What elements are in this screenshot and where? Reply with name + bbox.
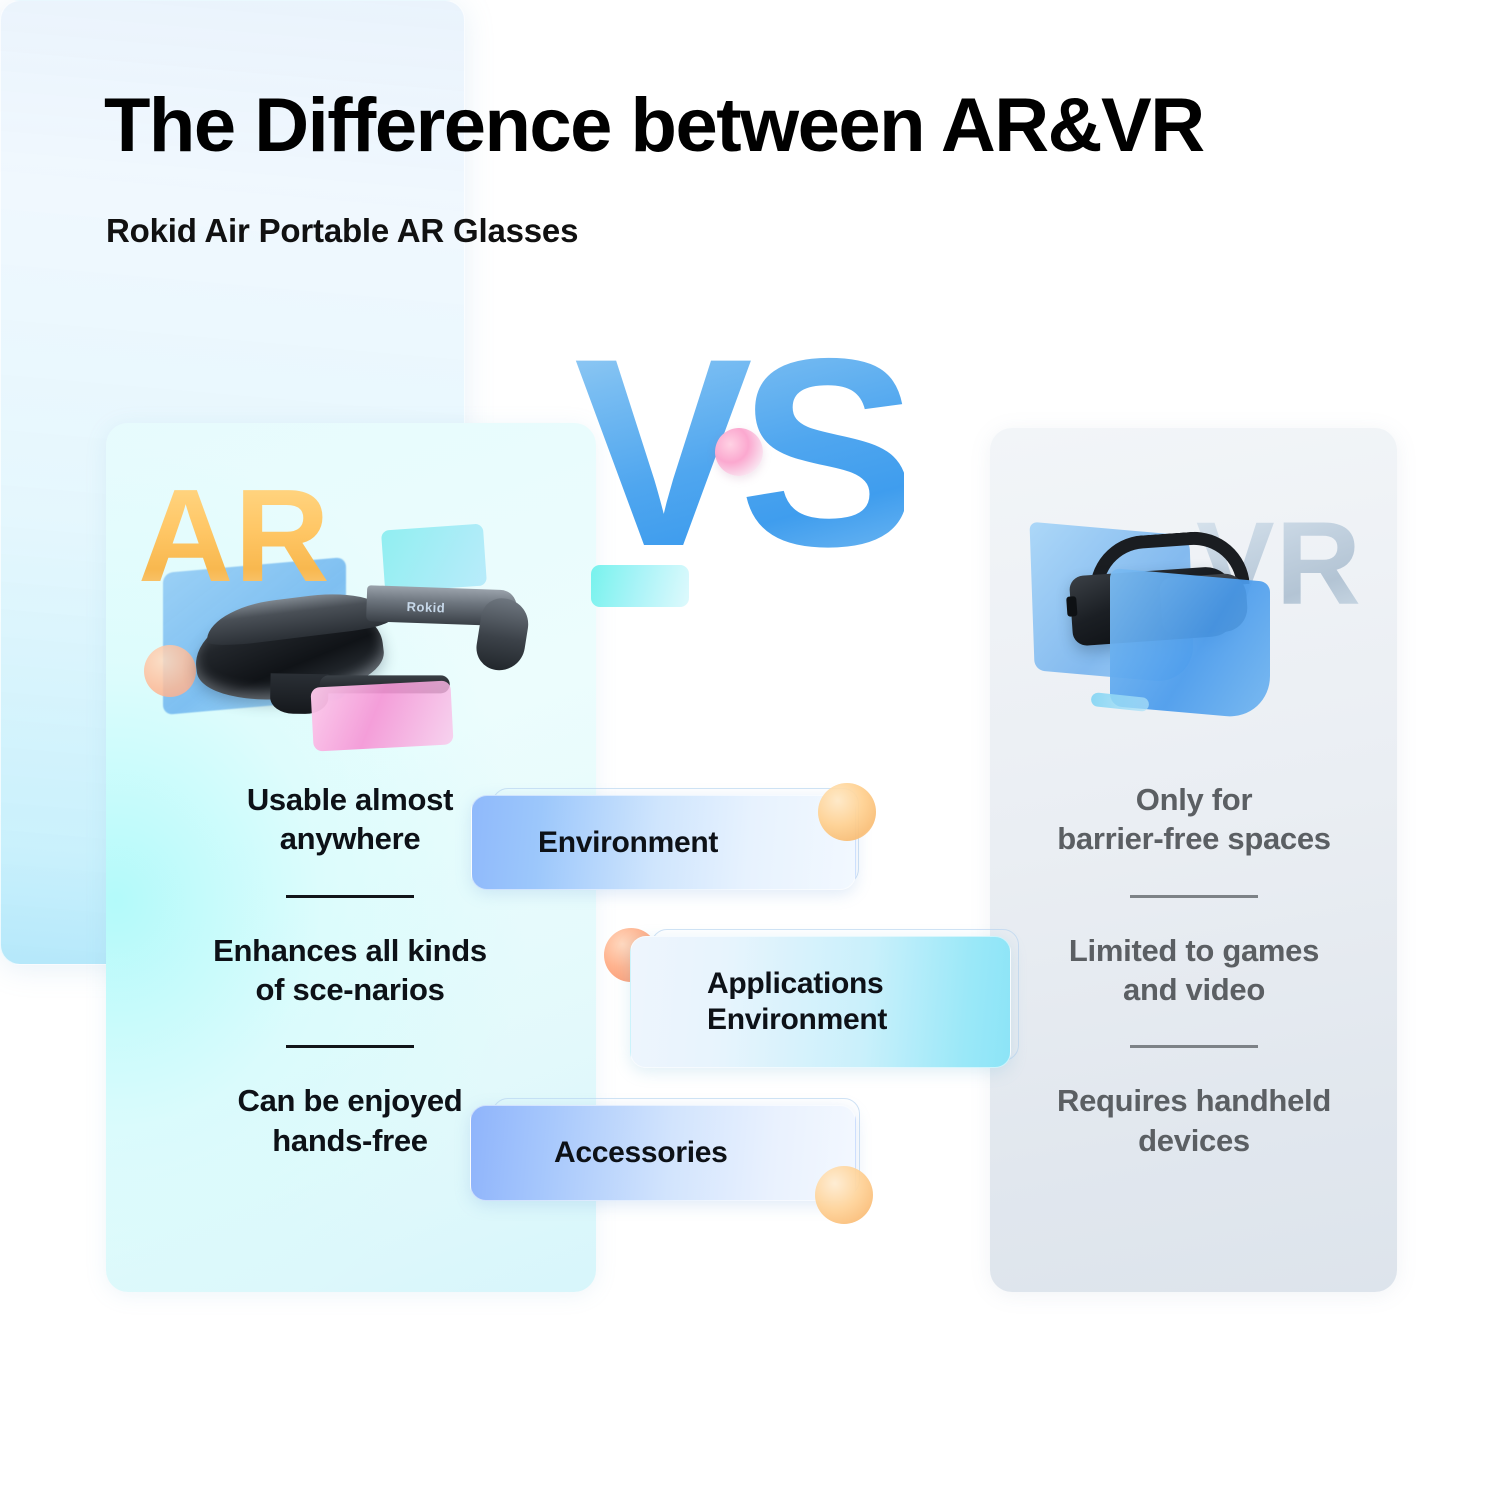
vs-decorative-pink-ball (715, 428, 763, 476)
page-subtitle: Rokid Air Portable AR Glasses (106, 212, 578, 250)
ar-decorative-peach-circle (144, 645, 196, 697)
headset-button (1066, 596, 1077, 617)
category-pill-accessories[interactable]: Accessories (470, 1105, 856, 1201)
vr-feature-item-1: Only for barrier-free spaces (1000, 780, 1388, 859)
page-title: The Difference between AR&VR (104, 88, 1204, 164)
vr-feature-item-3: Requires handheld devices (1000, 1081, 1388, 1160)
vr-feature-item-2: Limited to games and video (1000, 931, 1388, 1010)
category-pill-environment[interactable]: Environment (471, 795, 856, 890)
ar-divider-1 (286, 895, 414, 898)
infographic-page: The Difference between AR&VR Rokid Air P… (0, 0, 1500, 1500)
category-label-environment: Environment (538, 825, 718, 861)
vs-decorative-cyan-chip (591, 565, 689, 607)
ar-feature-item-2: Enhances all kinds of sce-narios (140, 931, 560, 1010)
category-label-accessories: Accessories (554, 1135, 728, 1171)
decorative-amber-orb-top (818, 783, 876, 841)
category-label-applications-environment: Applications Environment (707, 966, 887, 1038)
vr-divider-1 (1130, 895, 1258, 898)
ar-decorative-pink-rect (310, 680, 453, 751)
ar-divider-2 (286, 1045, 414, 1048)
category-pill-applications-environment[interactable]: Applications Environment (630, 936, 1011, 1068)
decorative-amber-orb-bottom (815, 1166, 873, 1224)
vr-divider-2 (1130, 1045, 1258, 1048)
ar-badge-label: AR (138, 470, 331, 602)
vr-feature-list: Only for barrier-free spaces Limited to … (1000, 780, 1388, 1160)
glasses-brand-label: Rokid (406, 599, 445, 615)
